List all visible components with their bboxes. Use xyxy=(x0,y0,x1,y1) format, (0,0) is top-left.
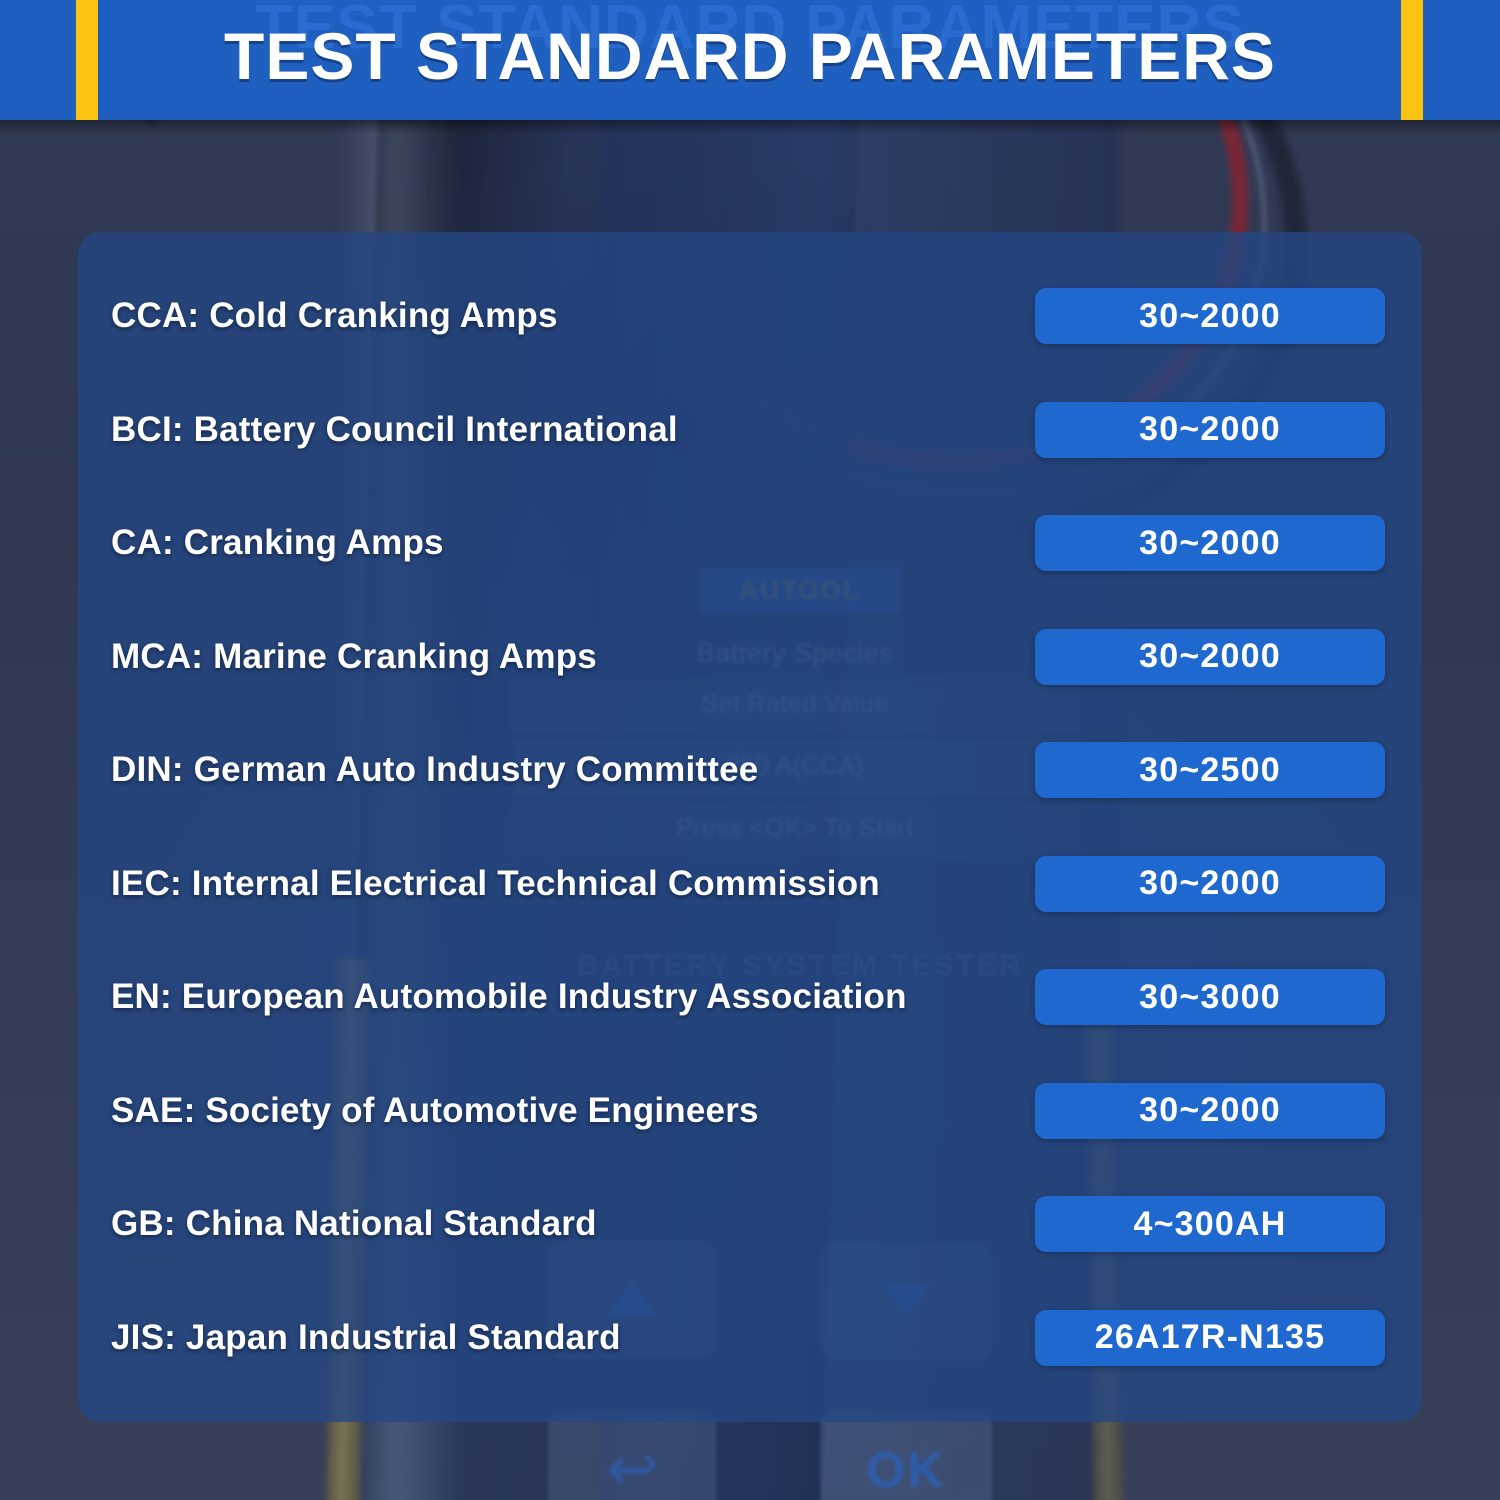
page-root: AUTOOL Battery Species Set Rated Value 3… xyxy=(0,0,1500,1500)
parameter-value-badge: 30~2000 xyxy=(1035,629,1385,685)
parameter-value-badge: 26A17R-N135 xyxy=(1035,1310,1385,1366)
keypad-ok-button: OK xyxy=(820,1410,992,1500)
parameter-value-badge: 30~2500 xyxy=(1035,742,1385,798)
parameter-value-badge: 30~2000 xyxy=(1035,515,1385,571)
accent-bar-right xyxy=(1401,0,1423,120)
parameter-label: SAE: Society of Automotive Engineers xyxy=(111,1091,759,1131)
parameter-value-badge: 30~2000 xyxy=(1035,1083,1385,1139)
table-row: CA: Cranking Amps30~2000 xyxy=(78,515,1422,571)
parameter-label: GB: China National Standard xyxy=(111,1204,597,1244)
parameter-label: IEC: Internal Electrical Technical Commi… xyxy=(111,864,880,904)
parameter-label: CA: Cranking Amps xyxy=(111,523,444,563)
table-row: MCA: Marine Cranking Amps30~2000 xyxy=(78,629,1422,685)
parameters-list: CCA: Cold Cranking Amps30~2000BCI: Batte… xyxy=(78,232,1422,1422)
parameter-value: 30~2000 xyxy=(1139,637,1281,676)
table-row: JIS: Japan Industrial Standard26A17R-N13… xyxy=(78,1310,1422,1366)
parameter-value: 30~2000 xyxy=(1139,864,1281,903)
table-row: BCI: Battery Council International30~200… xyxy=(78,402,1422,458)
return-arrow-icon: ↩ xyxy=(606,1439,658,1500)
header-banner: TEST STANDARD PARAMETERS TEST STANDARD P… xyxy=(0,0,1500,120)
parameter-value: 30~2000 xyxy=(1139,524,1281,563)
parameter-label: MCA: Marine Cranking Amps xyxy=(111,637,597,677)
table-row: EN: European Automobile Industry Associa… xyxy=(78,969,1422,1025)
parameter-value-badge: 30~3000 xyxy=(1035,969,1385,1025)
table-row: GB: China National Standard4~300AH xyxy=(78,1196,1422,1252)
parameter-value-badge: 30~2000 xyxy=(1035,856,1385,912)
parameter-label: CCA: Cold Cranking Amps xyxy=(111,296,558,336)
table-row: DIN: German Auto Industry Committee30~25… xyxy=(78,742,1422,798)
parameter-value-badge: 4~300AH xyxy=(1035,1196,1385,1252)
parameter-label: EN: European Automobile Industry Associa… xyxy=(111,977,907,1017)
keypad-ok-label: OK xyxy=(867,1441,946,1499)
parameter-value-badge: 30~2000 xyxy=(1035,288,1385,344)
parameter-label: JIS: Japan Industrial Standard xyxy=(111,1318,621,1358)
parameter-value: 30~2500 xyxy=(1139,751,1281,790)
parameter-value: 30~3000 xyxy=(1139,978,1281,1017)
header-drop-shadow xyxy=(0,120,1500,134)
table-row: SAE: Society of Automotive Engineers30~2… xyxy=(78,1083,1422,1139)
table-row: CCA: Cold Cranking Amps30~2000 xyxy=(78,288,1422,344)
accent-bar-left xyxy=(76,0,98,120)
parameter-value: 30~2000 xyxy=(1139,297,1281,336)
parameter-label: DIN: German Auto Industry Committee xyxy=(111,750,758,790)
parameter-label: BCI: Battery Council International xyxy=(111,410,678,450)
parameters-panel: CCA: Cold Cranking Amps30~2000BCI: Batte… xyxy=(78,232,1422,1422)
parameter-value: 4~300AH xyxy=(1134,1205,1287,1244)
parameter-value: 30~2000 xyxy=(1139,1091,1281,1130)
page-title: TEST STANDARD PARAMETERS xyxy=(0,18,1500,94)
parameter-value: 30~2000 xyxy=(1139,410,1281,449)
keypad-back-button: ↩ xyxy=(548,1410,716,1500)
table-row: IEC: Internal Electrical Technical Commi… xyxy=(78,856,1422,912)
parameter-value-badge: 30~2000 xyxy=(1035,402,1385,458)
parameter-value: 26A17R-N135 xyxy=(1095,1318,1326,1357)
